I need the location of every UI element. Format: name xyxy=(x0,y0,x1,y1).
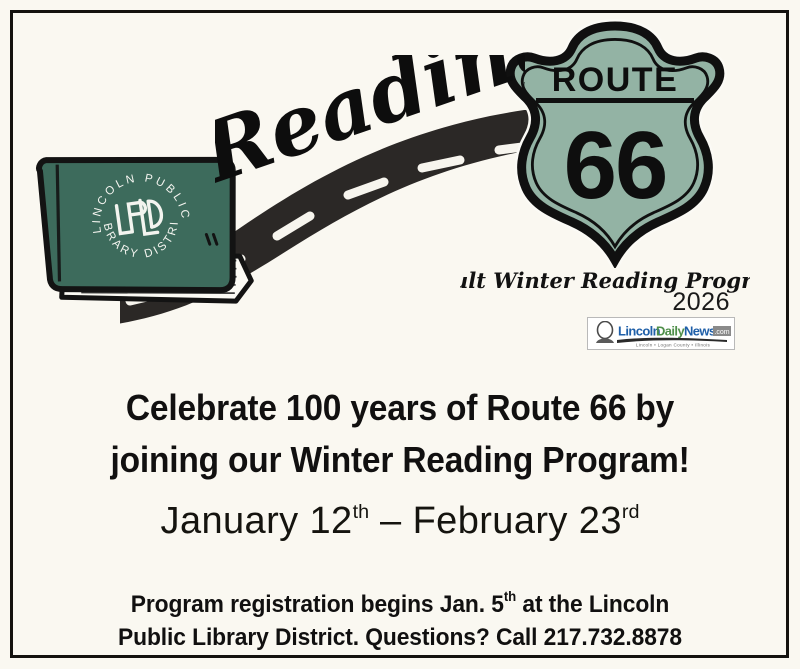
route-66-shield: ROUTE 66 xyxy=(490,18,740,268)
footnote-line-1-a: Program registration begins Jan. 5 xyxy=(131,591,504,618)
date-separator: – xyxy=(380,500,402,542)
start-day: 12 xyxy=(310,500,353,542)
poster-canvas: LINCOLN PUBLIC LIBRARY DISTRICT xyxy=(0,0,800,669)
ldn-tagline: Lincoln • Logan County • Illinois xyxy=(636,343,711,348)
headline: Celebrate 100 years of Route 66 by joini… xyxy=(65,382,735,486)
headline-line-1: Celebrate 100 years of Route 66 by xyxy=(65,382,735,434)
footnote-line-1: Program registration begins Jan. 5th at … xyxy=(58,580,742,621)
shield-number: 66 xyxy=(564,112,667,219)
footnote: Program registration begins Jan. 5th at … xyxy=(58,580,742,654)
footnote-ordinal: th xyxy=(504,588,516,604)
end-ordinal: rd xyxy=(622,501,640,523)
ldn-word-lincoln: Lincoln xyxy=(618,324,661,339)
date-range: January 12th – February 23rd xyxy=(40,500,760,543)
reading-script-word: Reading xyxy=(215,55,525,235)
start-month: January xyxy=(161,500,299,542)
end-month: February xyxy=(413,500,568,542)
shield-route-label: ROUTE xyxy=(552,61,679,99)
start-ordinal: th xyxy=(353,501,369,523)
reader-silhouette-icon xyxy=(596,322,614,344)
footnote-line-1-b: at the Lincoln xyxy=(516,591,669,618)
footnote-line-2: Public Library District. Questions? Call… xyxy=(58,621,742,654)
ldn-word-news: News xyxy=(684,324,716,339)
lincoln-daily-news-logo[interactable]: Lincoln Daily News .com Lincoln • Logan … xyxy=(587,317,735,350)
subtitle-year: 2026 xyxy=(460,288,730,317)
ldn-word-daily: Daily xyxy=(656,324,685,339)
ldn-domain: .com xyxy=(714,329,729,336)
headline-line-2: joining our Winter Reading Program! xyxy=(65,434,735,486)
end-day: 23 xyxy=(579,500,622,542)
reading-script-text: Reading xyxy=(215,55,525,203)
